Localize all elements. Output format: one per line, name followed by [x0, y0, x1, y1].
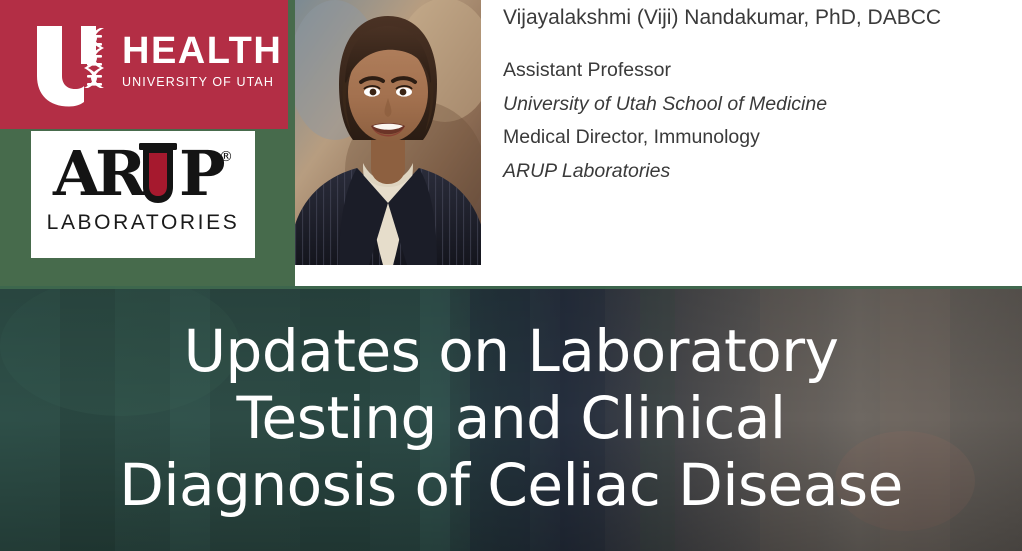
title-slide: HEALTH UNIVERSITY OF UTAH A R P ® LABORA…: [0, 0, 1022, 551]
health-wordmark-text: HEALTH: [122, 30, 282, 72]
bio-spacer: [503, 32, 1018, 54]
university-of-utah-health-band: HEALTH UNIVERSITY OF UTAH: [0, 0, 288, 129]
arup-laboratories-logo-card: A R P ® LABORATORIES: [31, 131, 255, 258]
title-text-block: Updates on Laboratory Testing and Clinic…: [0, 286, 1022, 551]
speaker-affiliation-school: University of Utah School of Medicine: [503, 88, 1018, 122]
title-banner: Updates on Laboratory Testing and Clinic…: [0, 286, 1022, 551]
speaker-name: Vijayalakshmi (Viji) Nandakumar, PhD, DA…: [503, 4, 1018, 32]
university-of-utah-subtitle: UNIVERSITY OF UTAH: [122, 74, 282, 90]
speaker-role-line: Medical Director, Immunology: [503, 121, 1018, 155]
university-of-utah-health-wordmark: HEALTH UNIVERSITY OF UTAH: [122, 30, 282, 90]
university-of-utah-health-logo: HEALTH UNIVERSITY OF UTAH: [34, 24, 274, 109]
title-line-3: Diagnosis of Celiac Disease: [119, 452, 903, 519]
speaker-portrait-photo: [295, 0, 481, 265]
svg-text:R: R: [95, 141, 147, 209]
arup-wordmark-icon: A R P ®: [51, 141, 237, 209]
block-u-dna-icon: [34, 24, 110, 108]
title-line-2: Testing and Clinical: [236, 385, 785, 452]
speaker-affiliation-lab: ARUP Laboratories: [503, 155, 1018, 189]
speaker-title-line: Assistant Professor: [503, 54, 1018, 88]
svg-text:®: ®: [219, 149, 233, 165]
speaker-bio-block: Vijayalakshmi (Viji) Nandakumar, PhD, DA…: [503, 4, 1018, 188]
title-line-1: Updates on Laboratory: [184, 318, 839, 385]
arup-laboratories-subtitle: LABORATORIES: [31, 211, 255, 235]
